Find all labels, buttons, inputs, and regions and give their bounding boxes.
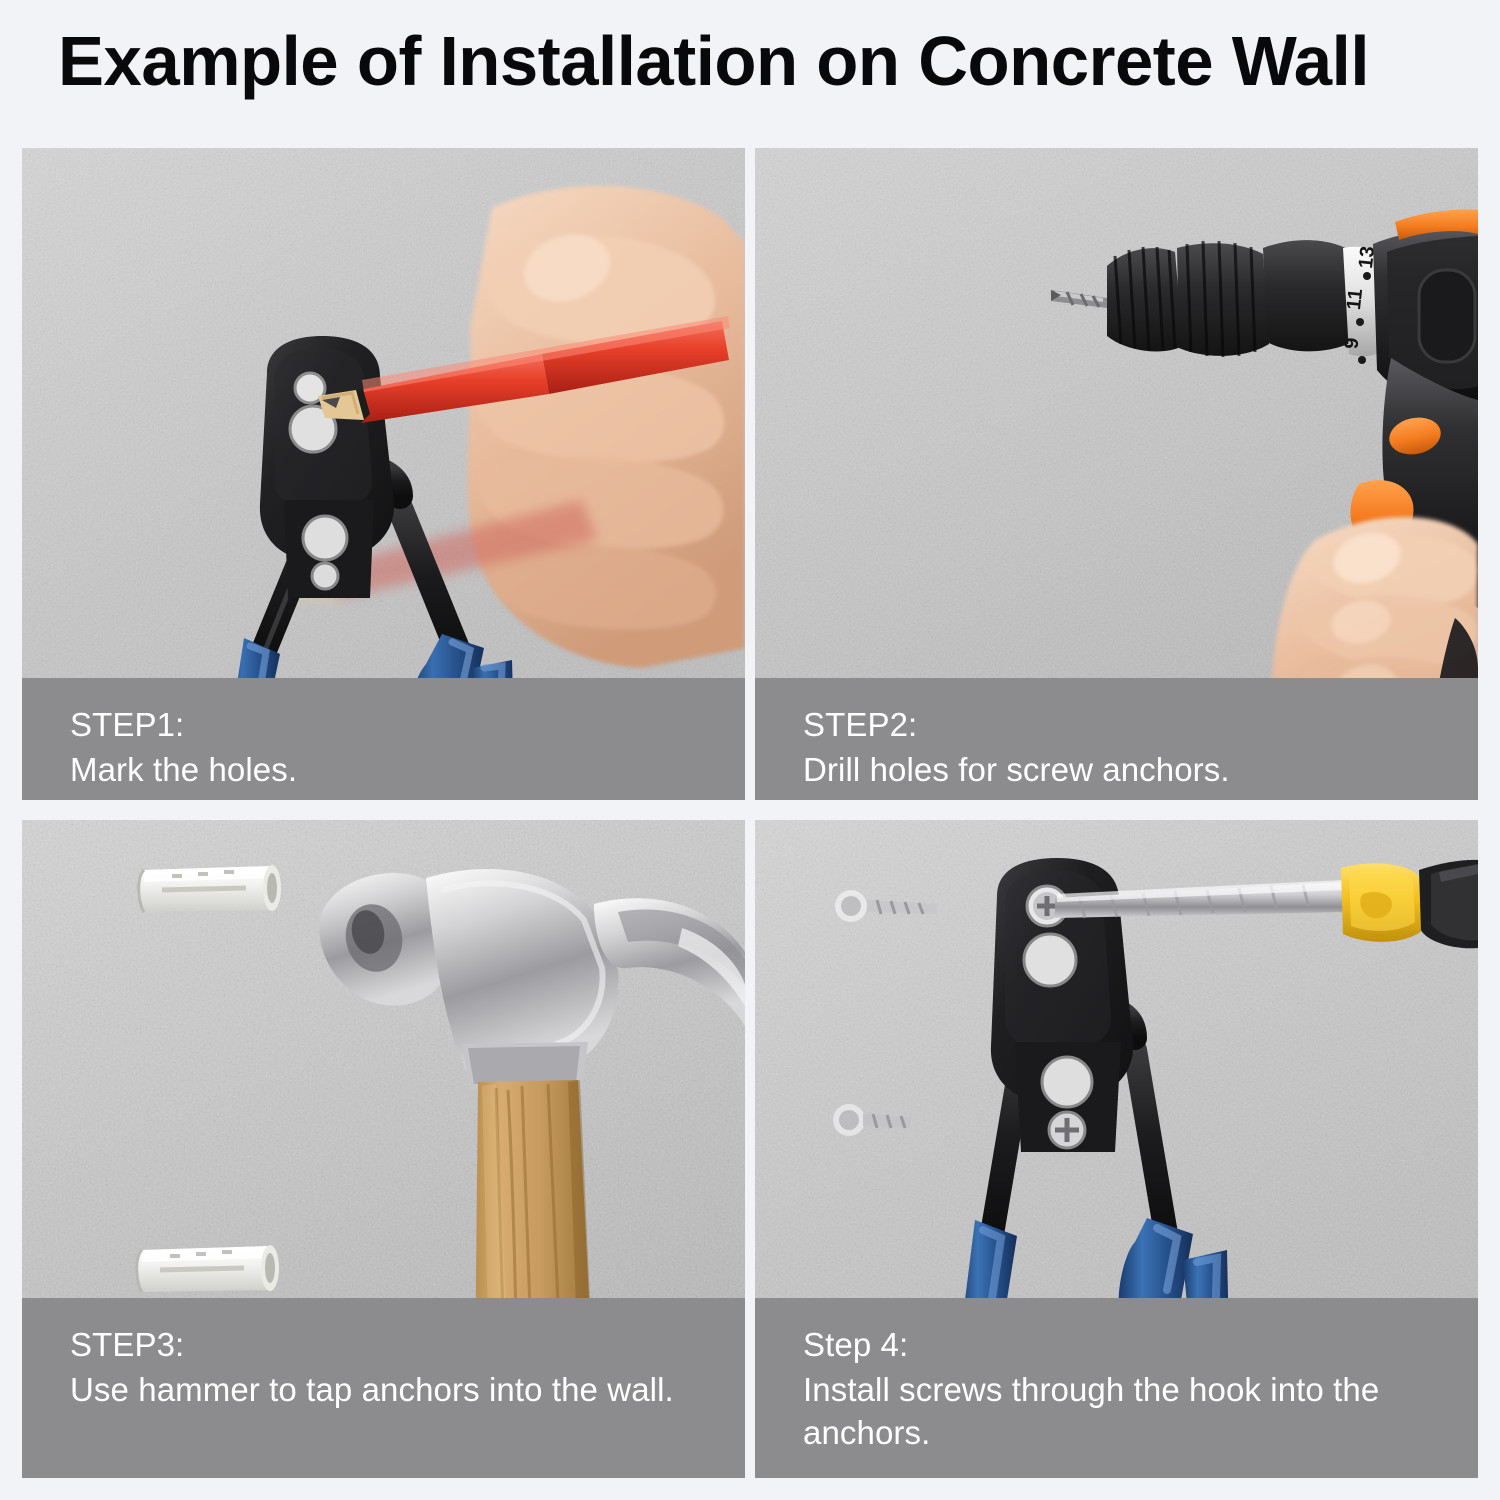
step-2-caption: STEP2: Drill holes for screw anchors. (755, 678, 1478, 800)
steps-grid: STEP1: Mark the holes. (22, 148, 1478, 1478)
step-2-label: STEP2: (803, 704, 1434, 747)
step-panel-2: 13 11 9 (755, 148, 1478, 800)
step-3-description: Use hammer to tap anchors into the wall. (70, 1369, 701, 1412)
step-3-caption: STEP3: Use hammer to tap anchors into th… (22, 1298, 745, 1478)
step-panel-4: Step 4: Install screws through the hook … (755, 820, 1478, 1478)
svg-text:9: 9 (1341, 337, 1364, 350)
step-1-description: Mark the holes. (70, 749, 701, 792)
step-2-description: Drill holes for screw anchors. (803, 749, 1434, 792)
step-4-caption: Step 4: Install screws through the hook … (755, 1298, 1478, 1478)
page-title: Example of Installation on Concrete Wall (58, 26, 1369, 96)
step-4-label: Step 4: (803, 1324, 1434, 1367)
step-1-caption: STEP1: Mark the holes. (22, 678, 745, 800)
step-4-description: Install screws through the hook into the… (803, 1369, 1434, 1455)
svg-text:11: 11 (1343, 288, 1367, 311)
step-1-label: STEP1: (70, 704, 701, 747)
step-panel-1: STEP1: Mark the holes. (22, 148, 745, 800)
step-3-label: STEP3: (70, 1324, 701, 1367)
step-panel-3: STEP3: Use hammer to tap anchors into th… (22, 820, 745, 1478)
